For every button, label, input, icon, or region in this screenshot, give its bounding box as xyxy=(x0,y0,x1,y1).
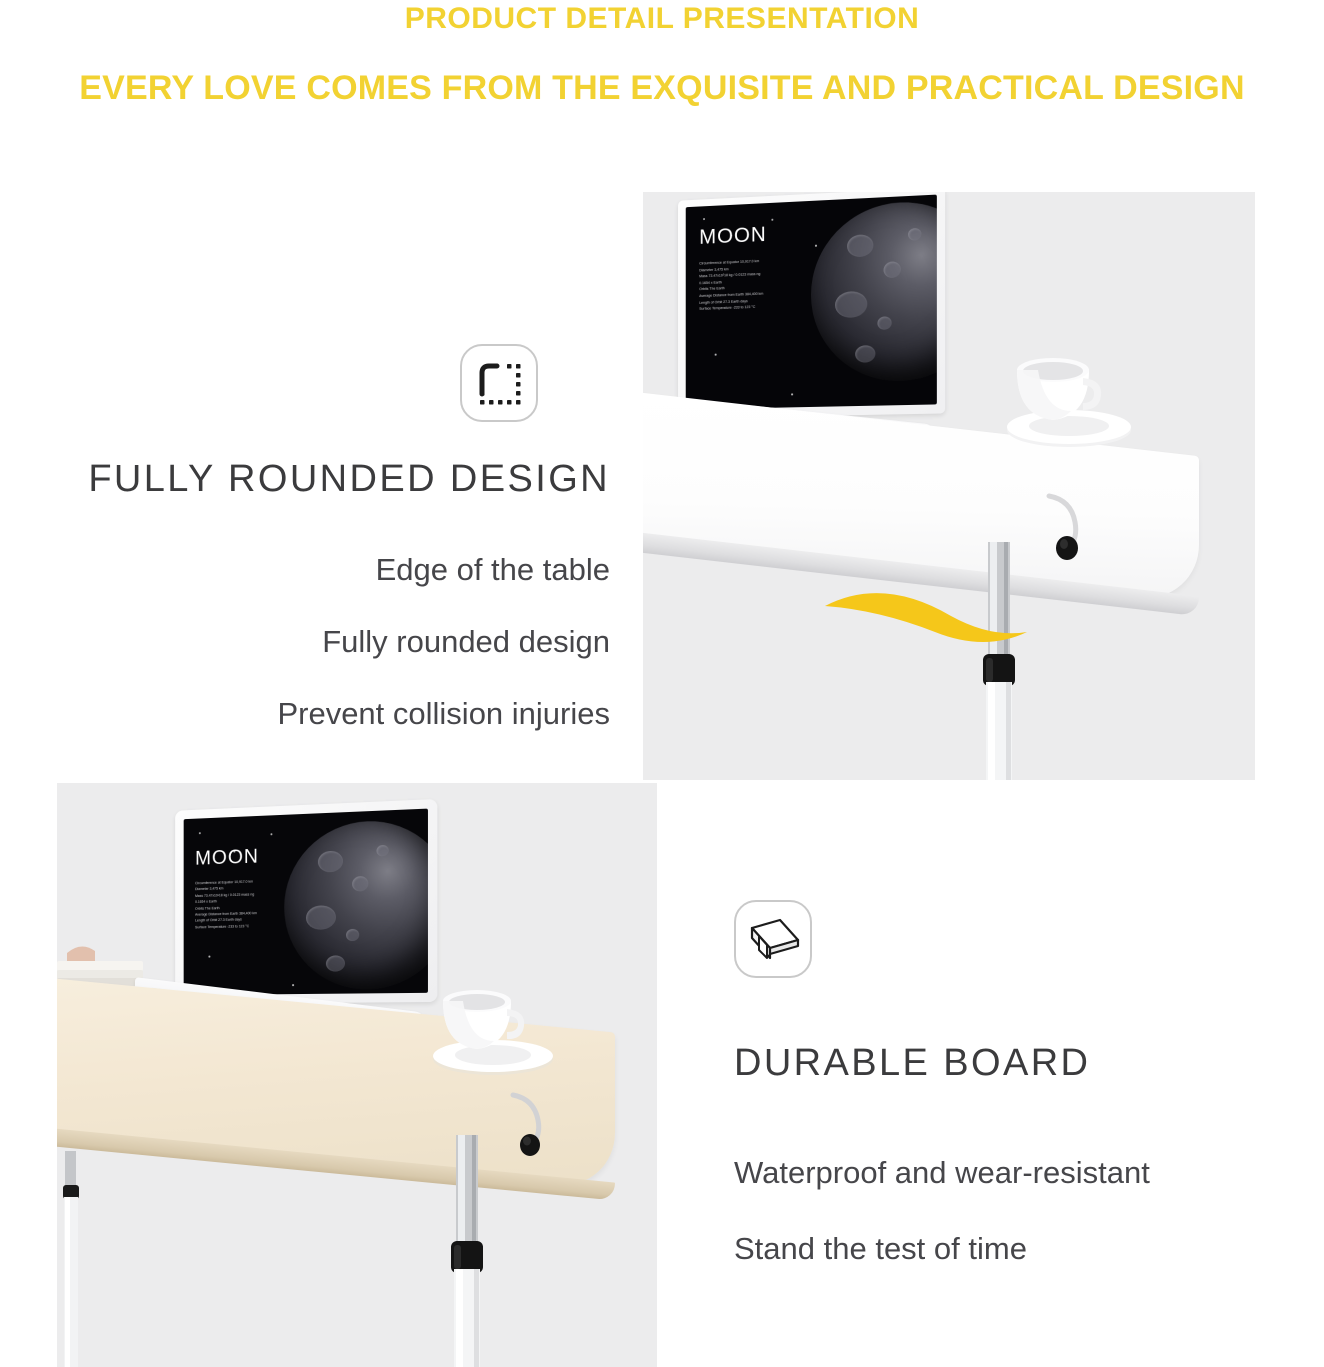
rounded-edge-highlight xyxy=(821,570,1031,648)
feature-line: Prevent collision injuries xyxy=(0,696,610,732)
feature-block-durable-board: DURABLE BOARD Waterproof and wear-resist… xyxy=(700,900,1324,1320)
feature-line: Waterproof and wear-resistant xyxy=(734,1155,1324,1191)
laptop-lid: MOON Circumference at Equator 10,917.0 k… xyxy=(175,799,437,1004)
rounded-corner-icon xyxy=(460,344,538,422)
laptop-screen: MOON Circumference at Equator 10,917.0 k… xyxy=(686,195,937,410)
photo-white-desk: MOON Circumference at Equator 10,917.0 k… xyxy=(643,192,1255,780)
moon-screen-specs: Circumference at Equator 10,917.0 km Dia… xyxy=(699,259,763,314)
header-title-secondary: EVERY LOVE COMES FROM THE EXQUISITE AND … xyxy=(0,69,1324,108)
coffee-cup xyxy=(423,975,557,1079)
feature-title-text: DURABLE BOARD xyxy=(734,1042,1090,1084)
feature-lines-fully-rounded: Edge of the table Fully rounded design P… xyxy=(0,552,610,768)
white-desk-scene: MOON Circumference at Equator 10,917.0 k… xyxy=(643,192,1255,780)
feature-line: Edge of the table xyxy=(0,552,610,588)
header-title-primary: PRODUCT DETAIL PRESENTATION xyxy=(0,2,1324,36)
moon-graphic xyxy=(284,818,428,990)
header-banner: PRODUCT DETAIL PRESENTATION EVERY LOVE C… xyxy=(0,0,1324,120)
height-adjust-knob[interactable] xyxy=(507,1091,581,1159)
moon-graphic xyxy=(811,198,937,383)
board-edge-icon xyxy=(734,900,812,978)
coffee-cup xyxy=(995,342,1135,452)
moon-screen-title: MOON xyxy=(195,846,259,871)
moon-screen-title: MOON xyxy=(699,223,767,250)
feature-line: Fully rounded design xyxy=(0,624,610,660)
laptop-screen: MOON Circumference at Equator 10,917.0 k… xyxy=(184,809,428,996)
photo-maple-desk: MOON Circumference at Equator 10,917.0 k… xyxy=(57,783,657,1367)
height-adjust-knob[interactable] xyxy=(1043,492,1123,562)
feature-title-fully-rounded: FULLY ROUNDED DESIGN xyxy=(0,458,610,501)
desk-column xyxy=(445,1135,489,1367)
feature-title-text: FULLY ROUNDED DESIGN xyxy=(88,458,610,500)
feature-block-fully-rounded: FULLY ROUNDED DESIGN Edge of the table F… xyxy=(0,330,640,770)
board-edge-icon-container xyxy=(734,900,812,978)
maple-desk-scene: MOON Circumference at Equator 10,917.0 k… xyxy=(57,783,657,1367)
feature-lines-durable-board: Waterproof and wear-resistant Stand the … xyxy=(734,1155,1324,1307)
rounded-corner-icon-container xyxy=(460,344,538,422)
feature-title-durable-board: DURABLE BOARD xyxy=(734,1042,1314,1085)
moon-screen-specs: Circumference at Equator 10,917.0 km Dia… xyxy=(195,879,257,931)
laptop-lid: MOON Circumference at Equator 10,917.0 k… xyxy=(678,192,945,418)
desk-leg xyxy=(57,1151,83,1367)
feature-line: Stand the test of time xyxy=(734,1231,1324,1267)
